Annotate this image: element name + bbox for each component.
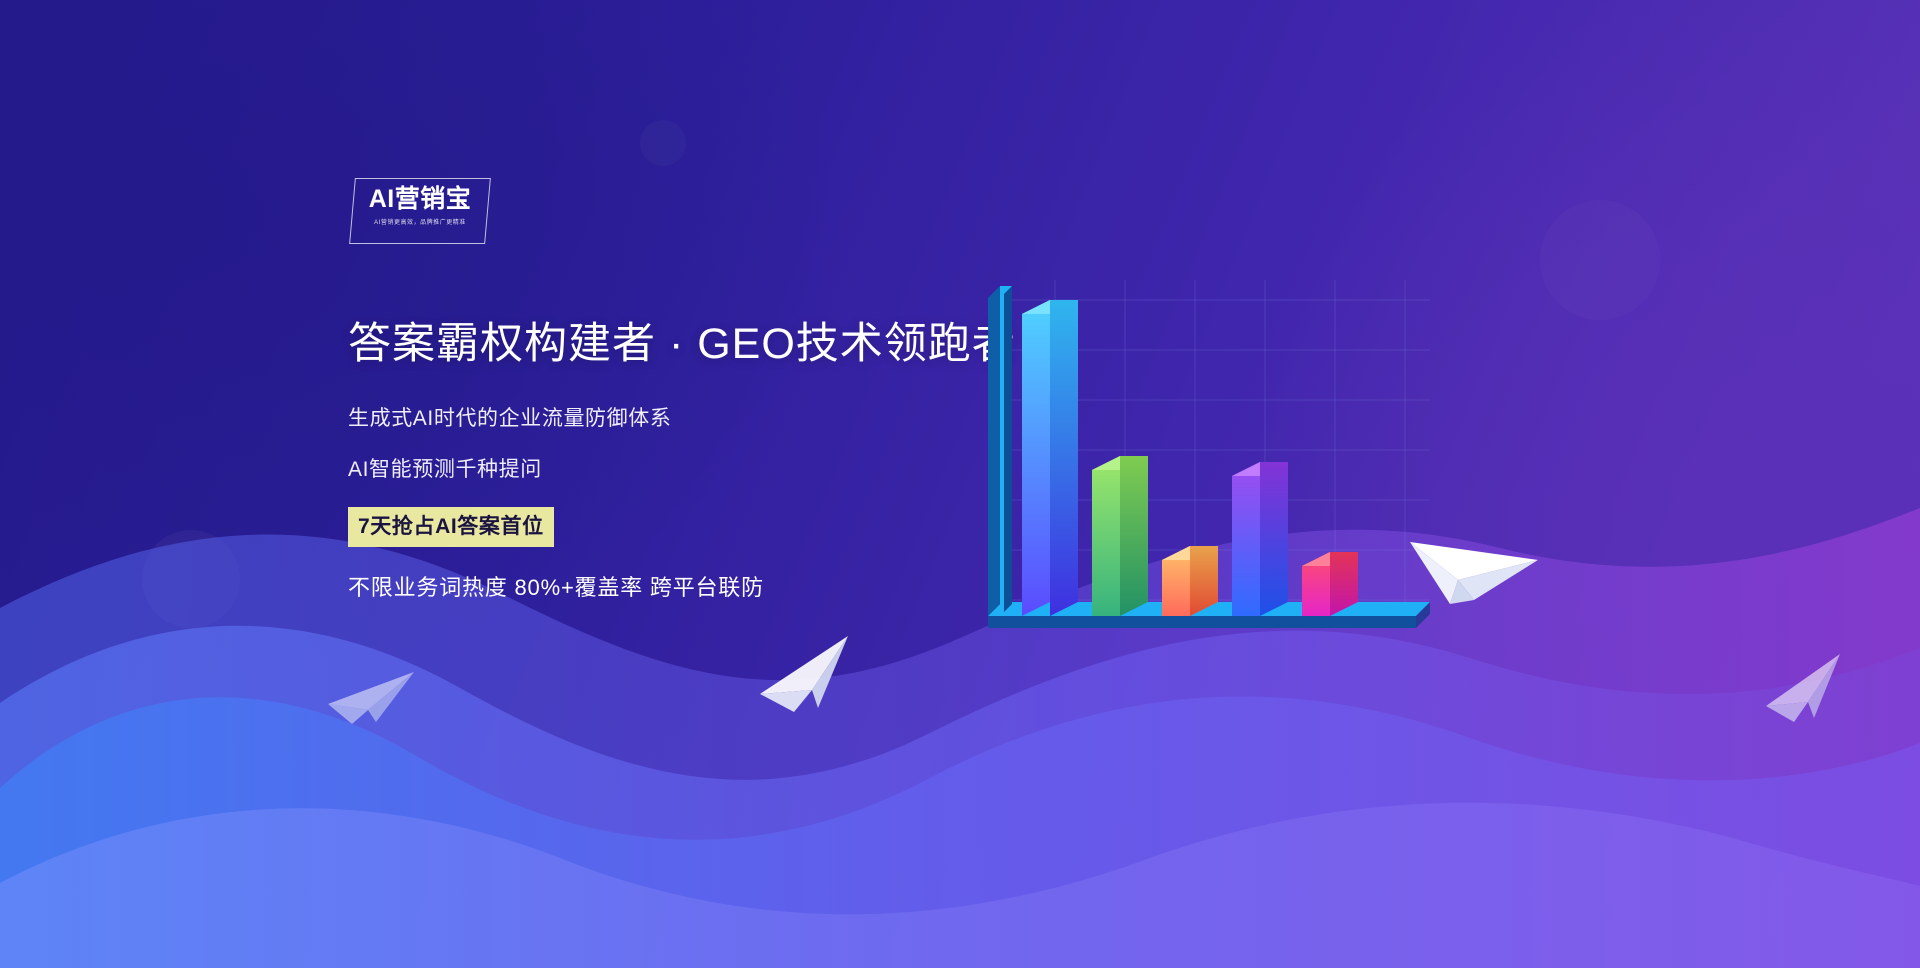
chart-y-axis	[988, 286, 1012, 616]
chart-bar	[1022, 300, 1078, 616]
paper-plane-icon	[752, 628, 862, 716]
chart-bar	[1232, 462, 1288, 616]
decorative-circle	[1760, 870, 1840, 950]
paper-plane-icon	[322, 652, 422, 728]
chart-bar	[1092, 456, 1148, 616]
bar-chart-illustration	[960, 280, 1460, 680]
hero-banner: AI营销宝 AI营销更高效，品牌推广更精准 答案霸权构建者 · GEO技术领跑者…	[0, 0, 1920, 968]
logo-text: AI营销宝	[352, 187, 488, 212]
brand-logo[interactable]: AI营销宝 AI营销更高效，品牌推广更精准	[352, 178, 488, 244]
chart-bar	[1162, 546, 1218, 616]
paper-plane-icon	[1760, 648, 1850, 726]
decorative-circle	[640, 120, 686, 166]
logo-subtitle: AI营销更高效，品牌推广更精准	[357, 220, 482, 226]
decorative-circle	[142, 530, 240, 628]
decorative-circle	[1540, 200, 1660, 320]
hero-highlight-badge: 7天抢占AI答案首位	[348, 507, 554, 547]
